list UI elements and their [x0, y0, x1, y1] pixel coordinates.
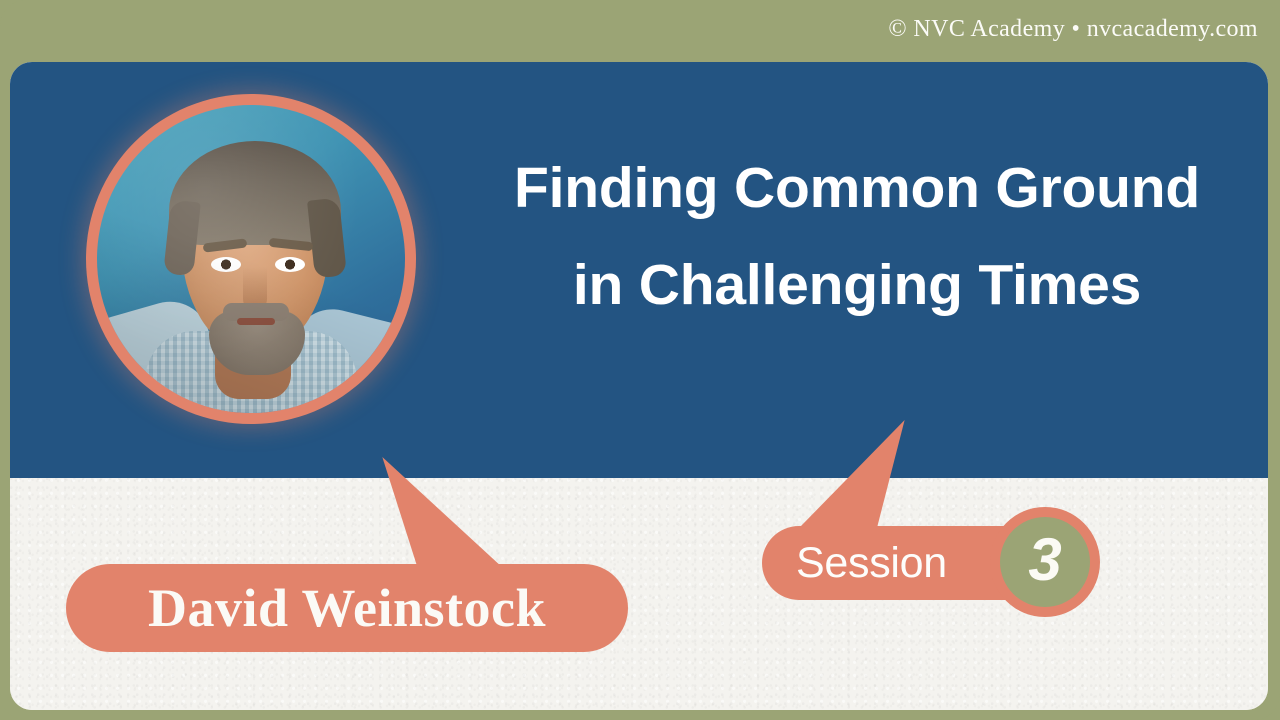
photo-lighting-overlay: [97, 105, 405, 413]
presenter-name-bubble: David Weinstock: [66, 564, 628, 652]
session-number-badge-inner: 3: [1000, 517, 1090, 607]
session-number-label: 3: [1028, 530, 1061, 590]
presenter-name-label: David Weinstock: [148, 577, 546, 639]
slide-title-line-2: in Challenging Times: [454, 237, 1260, 334]
slide-title: Finding Common Ground in Challenging Tim…: [454, 140, 1260, 334]
session-number-badge: 3: [990, 507, 1100, 617]
presenter-photo: [97, 105, 405, 413]
slide-card: Finding Common Ground in Challenging Tim…: [10, 62, 1268, 710]
presenter-avatar-ring: [86, 94, 416, 424]
slide-title-line-1: Finding Common Ground: [454, 140, 1260, 237]
presentation-slide: © NVC Academy • nvcacademy.com: [0, 0, 1280, 720]
session-label: Session: [796, 539, 947, 588]
copyright-notice: © NVC Academy • nvcacademy.com: [888, 16, 1258, 43]
